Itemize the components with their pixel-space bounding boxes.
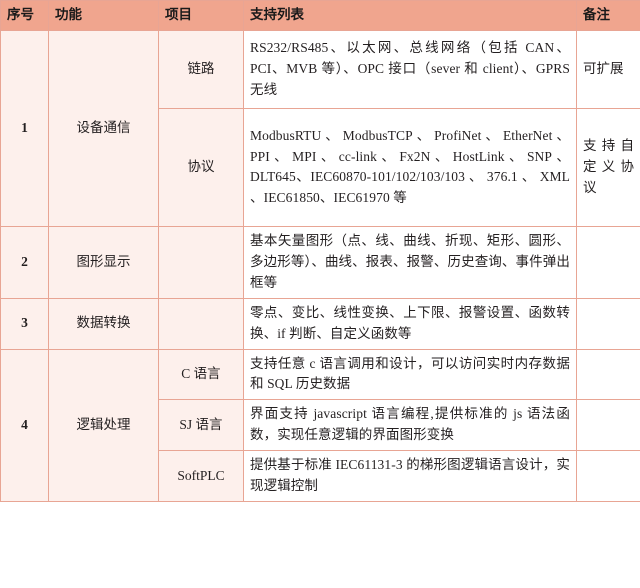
row-support-list: 零点、变比、线性变换、上下限、报警设置、函数转换、if 判断、自定义函数等 [244, 298, 577, 349]
row-support-list: 界面支持 javascript 语言编程,提供标准的 js 语法函数，实现任意逻… [244, 400, 577, 451]
column-header-item: 项目 [159, 1, 244, 31]
row-item: 链路 [159, 30, 244, 108]
table-row: 4 逻辑处理 C 语言 支持任意 c 语言调用和设计，可以访问实时内存数据和 S… [1, 349, 640, 400]
specification-table: 序号 功能 项目 支持列表 备注 1 设备通信 链路 RS232/RS485、以… [0, 0, 640, 502]
row-item: SJ 语言 [159, 400, 244, 451]
row-function: 逻辑处理 [49, 349, 159, 502]
column-header-no: 序号 [1, 1, 49, 31]
row-remark [577, 451, 640, 502]
row-remark: 可扩展 [577, 30, 640, 108]
row-support-list: 支持任意 c 语言调用和设计，可以访问实时内存数据和 SQL 历史数据 [244, 349, 577, 400]
table-header: 序号 功能 项目 支持列表 备注 [1, 1, 640, 31]
row-support-list: 基本矢量图形（点、线、曲线、折现、矩形、圆形、多边形等）、曲线、报表、报警、历史… [244, 226, 577, 298]
row-remark [577, 349, 640, 400]
column-header-remark: 备注 [577, 1, 640, 31]
row-remark [577, 226, 640, 298]
row-number: 1 [1, 30, 49, 226]
table-header-row: 序号 功能 项目 支持列表 备注 [1, 1, 640, 31]
row-item [159, 298, 244, 349]
row-function: 图形显示 [49, 226, 159, 298]
table-body: 1 设备通信 链路 RS232/RS485、以太网、总线网络（包括 CAN、PC… [1, 30, 640, 501]
row-item [159, 226, 244, 298]
table-row: 1 设备通信 链路 RS232/RS485、以太网、总线网络（包括 CAN、PC… [1, 30, 640, 108]
row-number: 2 [1, 226, 49, 298]
table-row: 2 图形显示 基本矢量图形（点、线、曲线、折现、矩形、圆形、多边形等）、曲线、报… [1, 226, 640, 298]
row-function: 设备通信 [49, 30, 159, 226]
row-item: 协议 [159, 108, 244, 226]
column-header-function: 功能 [49, 1, 159, 31]
table-row: 3 数据转换 零点、变比、线性变换、上下限、报警设置、函数转换、if 判断、自定… [1, 298, 640, 349]
row-number: 4 [1, 349, 49, 502]
row-remark [577, 298, 640, 349]
column-header-support-list: 支持列表 [244, 1, 577, 31]
row-remark [577, 400, 640, 451]
row-function: 数据转换 [49, 298, 159, 349]
row-remark: 支 持 自 定 义 协 议 [577, 108, 640, 226]
row-support-list: ModbusRTU、ModbusTCP、ProfiNet、EtherNet、PP… [244, 108, 577, 226]
row-number: 3 [1, 298, 49, 349]
row-support-list: 提供基于标准 IEC61131-3 的梯形图逻辑语言设计，实现逻辑控制 [244, 451, 577, 502]
row-item: C 语言 [159, 349, 244, 400]
row-support-list: RS232/RS485、以太网、总线网络（包括 CAN、PCI、MVB 等）、O… [244, 30, 577, 108]
row-item: SoftPLC [159, 451, 244, 502]
